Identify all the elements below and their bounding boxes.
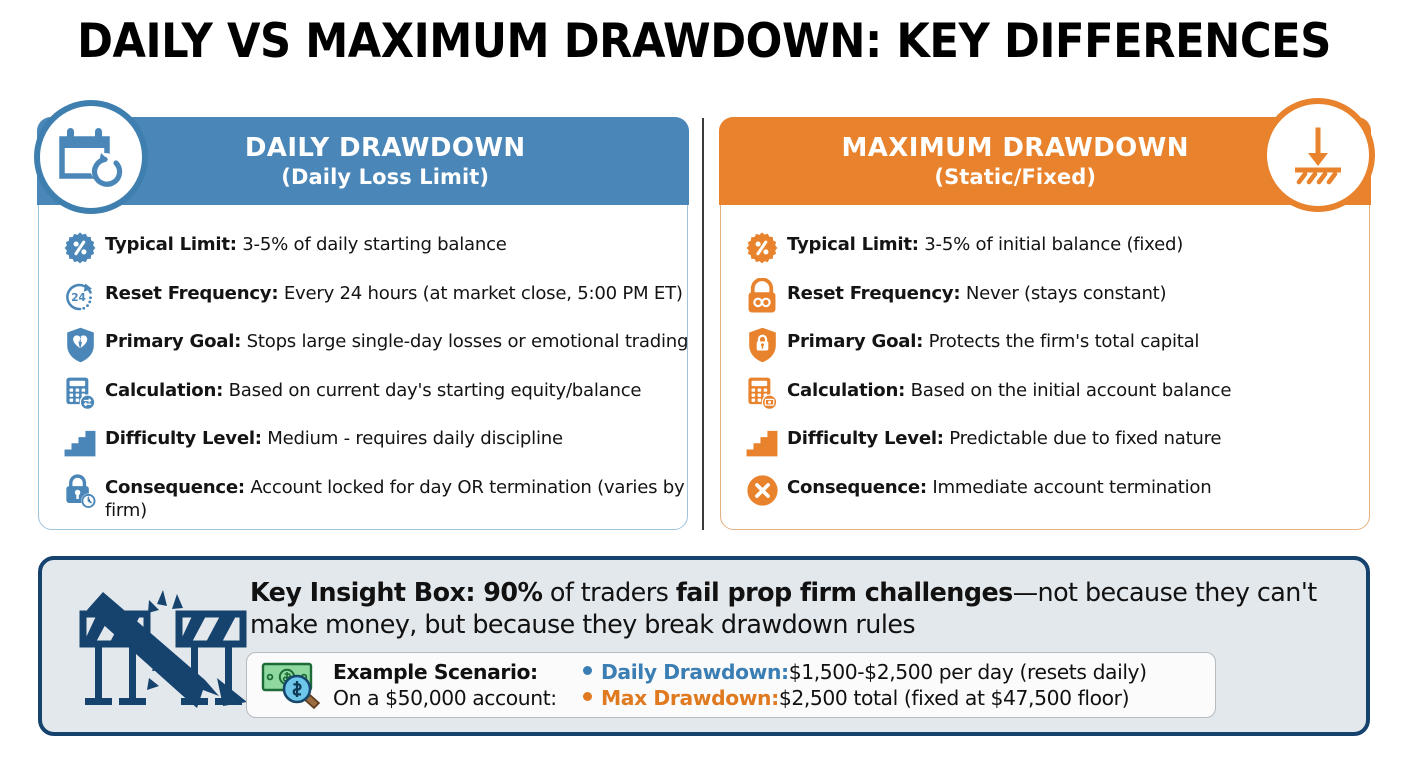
list-item: Calculation: Based on the initial accoun… bbox=[737, 371, 1371, 420]
list-item-text: Calculation: Based on current day's star… bbox=[105, 371, 689, 402]
calculator-money-icon bbox=[737, 372, 787, 416]
row-value: Never (stays constant) bbox=[966, 283, 1166, 304]
row-label: Reset Frequency: bbox=[105, 283, 278, 304]
list-item-text: Reset Frequency: Never (stays constant) bbox=[787, 274, 1371, 305]
arrow-down-to-floor-icon bbox=[1261, 98, 1375, 212]
row-value: 3-5% of daily starting balance bbox=[242, 234, 506, 255]
row-value: Every 24 hours (at market close, 5:00 PM… bbox=[284, 283, 683, 304]
list-item: Typical Limit: 3-5% of initial balance (… bbox=[737, 225, 1371, 274]
list-item-text: Difficulty Level: Predictable due to fix… bbox=[787, 419, 1371, 450]
shield-lock-icon bbox=[737, 323, 787, 367]
stairs-icon bbox=[55, 420, 105, 464]
x-circle-icon bbox=[737, 469, 787, 513]
list-item: Consequence: Immediate account terminati… bbox=[737, 468, 1371, 517]
row-label: Calculation: bbox=[787, 380, 905, 401]
calculator-exchange-icon bbox=[55, 372, 105, 416]
example-item-daily: Daily Drawdown: $1,500-$2,500 per day (r… bbox=[583, 659, 1215, 685]
example-line-1: Example Scenario: bbox=[333, 659, 583, 685]
row-label: Consequence: bbox=[105, 477, 245, 498]
list-item: Primary Goal: Stops large single-day los… bbox=[55, 322, 689, 371]
list-item: Difficulty Level: Medium - requires dail… bbox=[55, 419, 689, 468]
list-item-text: Typical Limit: 3-5% of initial balance (… bbox=[787, 225, 1371, 256]
shield-broken-heart-icon bbox=[55, 323, 105, 367]
list-item-text: Consequence: Immediate account terminati… bbox=[787, 468, 1371, 499]
row-label: Typical Limit: bbox=[105, 234, 237, 255]
key-insight-text: Key Insight Box: 90% of traders fail pro… bbox=[250, 577, 1335, 640]
max-drawdown-value: $2,500 total (fixed at $47,500 floor) bbox=[779, 685, 1129, 711]
daily-drawdown-column: DAILY DRAWDOWN (Daily Loss Limit) bbox=[38, 112, 688, 534]
comparison-columns: DAILY DRAWDOWN (Daily Loss Limit) bbox=[38, 112, 1370, 534]
row-label: Primary Goal: bbox=[787, 331, 923, 352]
row-value: Predictable due to fixed nature bbox=[949, 428, 1221, 449]
row-label: Calculation: bbox=[105, 380, 223, 401]
max-drawdown-label: Max Drawdown: bbox=[601, 685, 779, 711]
row-value: Stops large single-day losses or emotion… bbox=[247, 331, 689, 352]
money-magnifier-icon bbox=[247, 660, 333, 710]
example-scenario-values: Daily Drawdown: $1,500-$2,500 per day (r… bbox=[583, 659, 1215, 712]
calendar-refresh-icon bbox=[34, 100, 148, 214]
percent-badge-icon bbox=[55, 226, 105, 270]
daily-drawdown-value: $1,500-$2,500 per day (resets daily) bbox=[789, 659, 1147, 685]
bullet-dot-orange bbox=[583, 692, 592, 701]
list-item-text: Reset Frequency: Every 24 hours (at mark… bbox=[105, 274, 689, 305]
list-item: Consequence: Account locked for day OR t… bbox=[55, 468, 689, 522]
list-item: Primary Goal: Protects the firm's total … bbox=[737, 322, 1371, 371]
row-value: Protects the firm's total capital bbox=[929, 331, 1200, 352]
list-item-text: Difficulty Level: Medium - requires dail… bbox=[105, 419, 689, 450]
row-value: Based on current day's starting equity/b… bbox=[229, 380, 642, 401]
list-item-text: Consequence: Account locked for day OR t… bbox=[105, 468, 689, 522]
broken-barrier-arrow-icon bbox=[68, 586, 258, 714]
lock-clock-icon bbox=[55, 469, 105, 513]
example-line-2: On a $50,000 account: bbox=[333, 685, 583, 711]
maximum-header-title: MAXIMUM DRAWDOWN bbox=[842, 135, 1249, 163]
svg-text:24: 24 bbox=[71, 292, 86, 304]
lock-infinity-icon bbox=[737, 275, 787, 319]
example-scenario-box: Example Scenario: On a $50,000 account: … bbox=[246, 652, 1216, 718]
list-item: Typical Limit: 3-5% of daily starting ba… bbox=[55, 225, 689, 274]
list-item: Difficulty Level: Predictable due to fix… bbox=[737, 419, 1371, 468]
row-label: Primary Goal: bbox=[105, 331, 241, 352]
bullet-dot-blue bbox=[583, 666, 592, 675]
row-value: Medium - requires daily discipline bbox=[267, 428, 563, 449]
list-item: Calculation: Based on current day's star… bbox=[55, 371, 689, 420]
percent-badge-icon bbox=[737, 226, 787, 270]
daily-header-subtitle: (Daily Loss Limit) bbox=[237, 166, 489, 188]
infographic-root: DAILY VS MAXIMUM DRAWDOWN: KEY DIFFERENC… bbox=[0, 0, 1408, 768]
daily-header-title: DAILY DRAWDOWN bbox=[201, 135, 526, 163]
row-value: Based on the initial account balance bbox=[911, 380, 1232, 401]
example-scenario-label: Example Scenario: On a $50,000 account: bbox=[333, 659, 583, 712]
row-label: Difficulty Level: bbox=[105, 428, 262, 449]
row-value: 3-5% of initial balance (fixed) bbox=[924, 234, 1183, 255]
row-label: Typical Limit: bbox=[787, 234, 919, 255]
list-item-text: Primary Goal: Stops large single-day los… bbox=[105, 322, 689, 353]
maximum-rows: Typical Limit: 3-5% of initial balance (… bbox=[737, 225, 1371, 516]
page-title: DAILY VS MAXIMUM DRAWDOWN: KEY DIFFERENC… bbox=[56, 14, 1351, 69]
insight-mid-plain: of traders bbox=[542, 577, 675, 607]
stairs-icon bbox=[737, 420, 787, 464]
daily-drawdown-label: Daily Drawdown: bbox=[601, 659, 789, 685]
maximum-header-subtitle: (Static/Fixed) bbox=[934, 166, 1156, 188]
24-hour-reset-icon: 24 bbox=[55, 275, 105, 319]
row-value: Immediate account termination bbox=[932, 477, 1211, 498]
list-item: Reset Frequency: Never (stays constant) bbox=[737, 274, 1371, 323]
row-label: Consequence: bbox=[787, 477, 927, 498]
row-label: Difficulty Level: bbox=[787, 428, 944, 449]
insight-bold-mid: fail prop firm challenges bbox=[676, 577, 1013, 607]
list-item-text: Calculation: Based on the initial accoun… bbox=[787, 371, 1371, 402]
list-item-text: Primary Goal: Protects the firm's total … bbox=[787, 322, 1371, 353]
list-item-text: Typical Limit: 3-5% of daily starting ba… bbox=[105, 225, 689, 256]
column-divider bbox=[702, 118, 704, 530]
row-label: Reset Frequency: bbox=[787, 283, 960, 304]
daily-rows: Typical Limit: 3-5% of daily starting ba… bbox=[55, 225, 689, 522]
insight-bold-lead: Key Insight Box: 90% bbox=[250, 577, 542, 607]
key-insight-box: Key Insight Box: 90% of traders fail pro… bbox=[38, 556, 1370, 736]
example-item-max: Max Drawdown: $2,500 total (fixed at $47… bbox=[583, 685, 1215, 711]
maximum-drawdown-column: MAXIMUM DRAWDOWN (Static/Fixed) bbox=[720, 112, 1370, 534]
list-item: 24 Reset Frequency: Every 24 hours (at m… bbox=[55, 274, 689, 323]
